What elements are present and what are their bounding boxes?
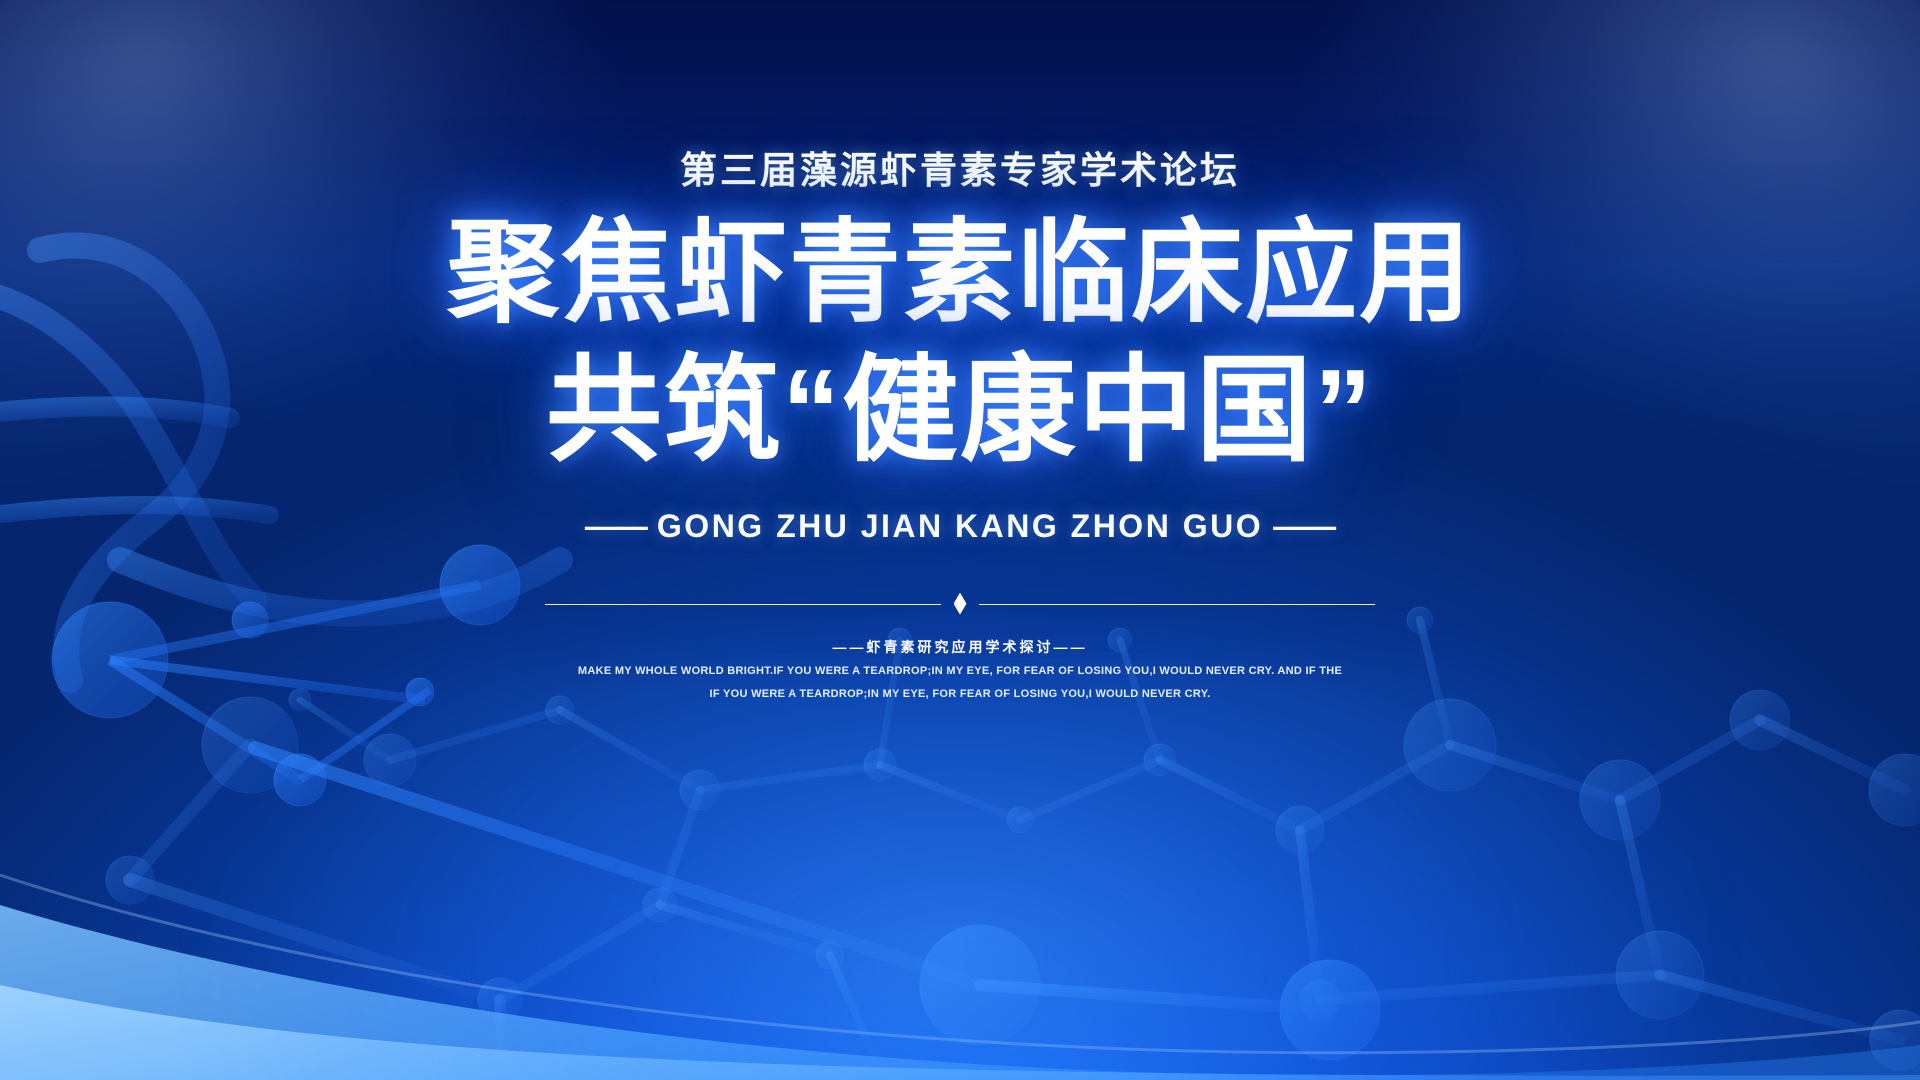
footer-english-line-2: IF YOU WERE A TEARDROP;IN MY EYE, FOR FE… — [578, 686, 1342, 703]
footer-text-block: ——虾青素研究应用学术探讨—— MAKE MY WHOLE WORLD BRIG… — [578, 637, 1342, 703]
ornamental-divider — [545, 593, 1375, 615]
main-headline: 聚焦虾青素临床应用 共筑“健康中国” — [447, 214, 1473, 472]
pinyin-dash-left: —— — [585, 508, 647, 545]
headline-line-1: 聚焦虾青素临床应用 — [447, 214, 1473, 333]
pinyin-dash-right: —— — [1273, 508, 1335, 545]
divider-rule-right — [979, 604, 1375, 606]
footer-english-line-1: MAKE MY WHOLE WORLD BRIGHT.IF YOU WERE A… — [578, 663, 1342, 680]
pinyin-text: GONG ZHU JIAN KANG ZHON GUO — [657, 508, 1263, 545]
diamond-icon — [954, 593, 967, 615]
event-series-title: 第三届藻源虾青素专家学术论坛 — [680, 140, 1240, 194]
banner-canvas: 第三届藻源虾青素专家学术论坛 聚焦虾青素临床应用 共筑“健康中国” —— GON… — [0, 0, 1920, 1080]
divider-rule-left — [545, 604, 941, 606]
headline-line-2: 共筑“健康中国” — [447, 349, 1473, 472]
pinyin-subtitle: —— GONG ZHU JIAN KANG ZHON GUO —— — [585, 508, 1335, 545]
banner-content: 第三届藻源虾青素专家学术论坛 聚焦虾青素临床应用 共筑“健康中国” —— GON… — [0, 0, 1920, 1080]
footer-chinese-tagline: ——虾青素研究应用学术探讨—— — [578, 637, 1342, 657]
